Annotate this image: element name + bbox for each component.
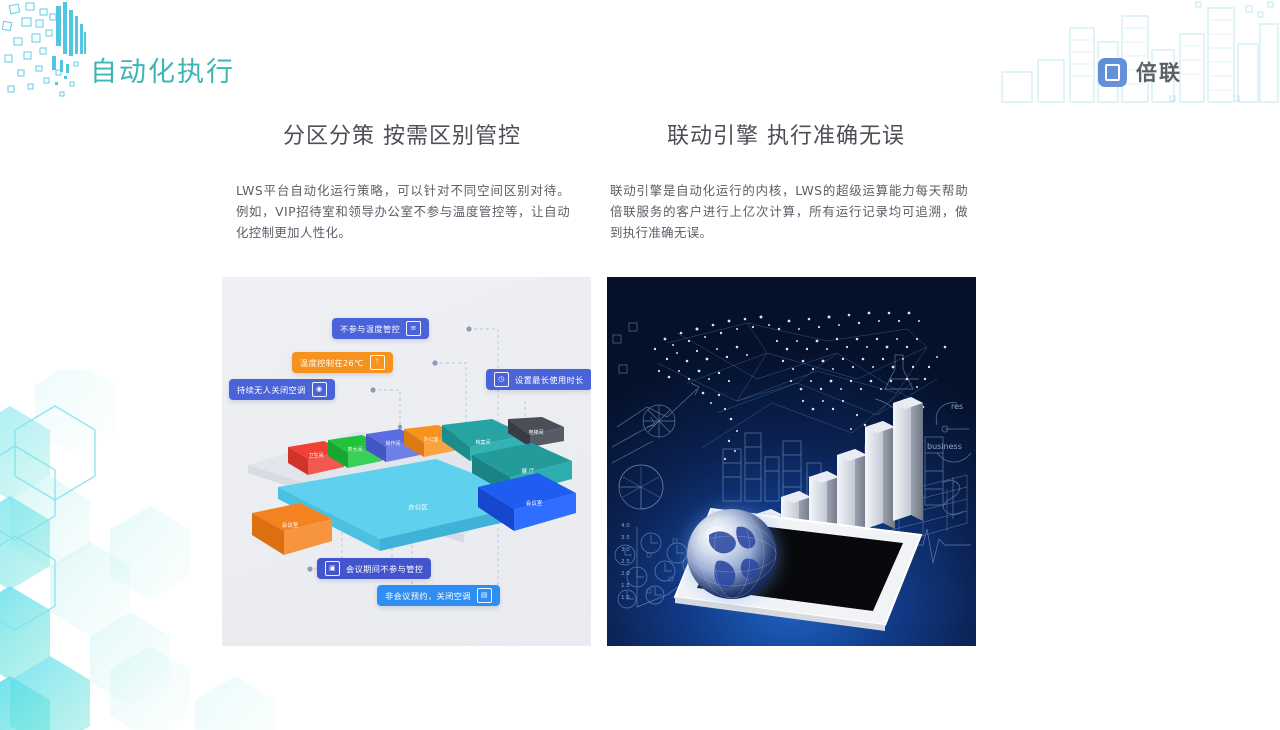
chip-temperature-26c[interactable]: 温度控制在26℃ ᛉ (292, 352, 393, 373)
brand-mark-icon (1098, 58, 1127, 87)
svg-text:1.5: 1.5 (621, 583, 630, 589)
chip-max-usage-duration[interactable]: ◷ 设置最长使用时长 (486, 369, 591, 390)
thermometer-icon: ᛉ (370, 355, 385, 370)
svg-text:会议室: 会议室 (526, 499, 543, 507)
svg-text:卫生间: 卫生间 (308, 452, 323, 459)
chip-label: 设置最长使用时长 (515, 374, 584, 386)
chip-no-control-during-meeting[interactable]: ▣ 会议期间不参与管控 (317, 558, 431, 579)
svg-text:操作间: 操作间 (385, 440, 400, 447)
column-right: 联动引擎 执行准确无误 联动引擎是自动化运行的内核，LWS的超级运算能力每天帮助… (596, 118, 976, 243)
sketch-label-res: res (951, 402, 963, 411)
page-title: 自动化执行 (90, 50, 235, 89)
meeting-room-icon: ▣ (325, 561, 340, 576)
chip-auto-off-when-vacant[interactable]: 持续无人关闭空调 ◉ (229, 379, 335, 400)
city-skyline-decoration (990, 0, 1280, 110)
svg-text:2.0: 2.0 (621, 571, 630, 577)
chip-close-ac-when-unbooked[interactable]: 非会议预约，关闭空调 ▤ (377, 585, 500, 606)
chip-label: 会议期间不参与管控 (346, 563, 423, 575)
global-data-analytics-visual: res business 4.03.53.0 2.52.01.5 1.0 (607, 277, 976, 646)
svg-text:办公室: 办公室 (423, 436, 438, 443)
svg-text:3.5: 3.5 (621, 535, 630, 541)
pixel-cluster-decoration (0, 0, 92, 112)
brand-name: 倍联 (1136, 57, 1182, 87)
chip-label: 不参与温度管控 (340, 323, 400, 335)
svg-text:展 厅: 展 厅 (522, 468, 535, 475)
chip-no-temperature-control[interactable]: 不参与温度管控 ≡ (332, 318, 429, 339)
column-right-heading: 联动引擎 执行准确无误 (596, 118, 976, 150)
svg-text:2.5: 2.5 (621, 559, 630, 565)
brand-logo: 倍联 (1098, 57, 1182, 87)
svg-text:办公区: 办公区 (408, 502, 428, 511)
svg-text:会议室: 会议室 (282, 521, 299, 529)
3d-globe (687, 509, 777, 599)
calendar-sync-icon: ▤ (477, 588, 492, 603)
svg-text:档案间: 档案间 (475, 439, 490, 446)
chip-label: 温度控制在26℃ (300, 357, 364, 369)
chip-label: 非会议预约，关闭空调 (385, 590, 471, 602)
svg-text:1.0: 1.0 (621, 595, 630, 601)
chip-label: 持续无人关闭空调 (237, 384, 306, 396)
column-right-body: 联动引擎是自动化运行的内核，LWS的超级运算能力每天帮助倍联服务的客户进行上亿次… (596, 180, 976, 243)
timer-clock-icon: ◷ (494, 372, 509, 387)
svg-text:3.0: 3.0 (621, 547, 630, 553)
svg-text:茶水间: 茶水间 (347, 446, 362, 453)
document-list-icon: ≡ (406, 321, 421, 336)
motion-sensor-icon: ◉ (312, 382, 327, 397)
svg-text:电梯间: 电梯间 (528, 429, 543, 436)
column-left: 分区分策 按需区别管控 LWS平台自动化运行策略，可以针对不同空间区别对待。例如… (212, 118, 592, 243)
column-left-body: LWS平台自动化运行策略，可以针对不同空间区别对待。例如，VIP招待室和领导办公… (212, 180, 592, 243)
svg-text:4.0: 4.0 (621, 523, 630, 529)
zoned-policy-floorplan-diagram: 办公区 卫生间 茶水间 操作间 办公室 (222, 277, 591, 646)
column-left-heading: 分区分策 按需区别管控 (212, 118, 592, 150)
